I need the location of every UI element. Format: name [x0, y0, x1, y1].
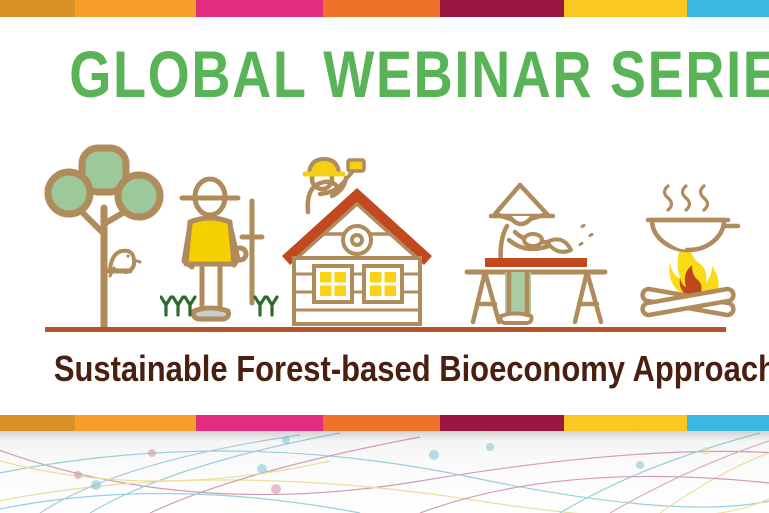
stripe-segment-orange [75, 415, 196, 431]
stripe-segment-maroon [440, 415, 564, 431]
top-color-stripe [0, 0, 769, 17]
stripe-segment-yellow [564, 415, 687, 431]
stripe-segment-vermilion [323, 0, 440, 17]
stripe-segment-magenta [196, 415, 323, 431]
stripe-segment-vermilion [323, 415, 440, 431]
tree-with-bird-icon [44, 142, 164, 337]
page-title: GLOBAL WEBINAR SERIES [69, 38, 700, 110]
decorative-network-graphic [0, 431, 769, 513]
webinar-banner: GLOBAL WEBINAR SERIES [0, 0, 769, 513]
stripe-segment-ochre [0, 415, 75, 431]
bottom-color-stripe [0, 415, 769, 431]
forester-with-spade-icon [160, 175, 280, 338]
page-subtitle: Sustainable Forest-based Bioeconomy Appr… [54, 348, 715, 390]
stripe-segment-magenta [196, 0, 323, 17]
ground-line-divider [45, 327, 726, 332]
wooden-house-builder-icon [272, 152, 442, 337]
cooking-pot-over-fire-icon [628, 176, 748, 341]
stripe-segment-cyan [687, 415, 769, 431]
woodworker-at-bench-icon [455, 182, 615, 337]
stripe-segment-cyan [687, 0, 769, 17]
stripe-segment-orange [75, 0, 196, 17]
stripe-segment-yellow [564, 0, 687, 17]
stripe-segment-maroon [440, 0, 564, 17]
stripe-segment-ochre [0, 0, 75, 17]
